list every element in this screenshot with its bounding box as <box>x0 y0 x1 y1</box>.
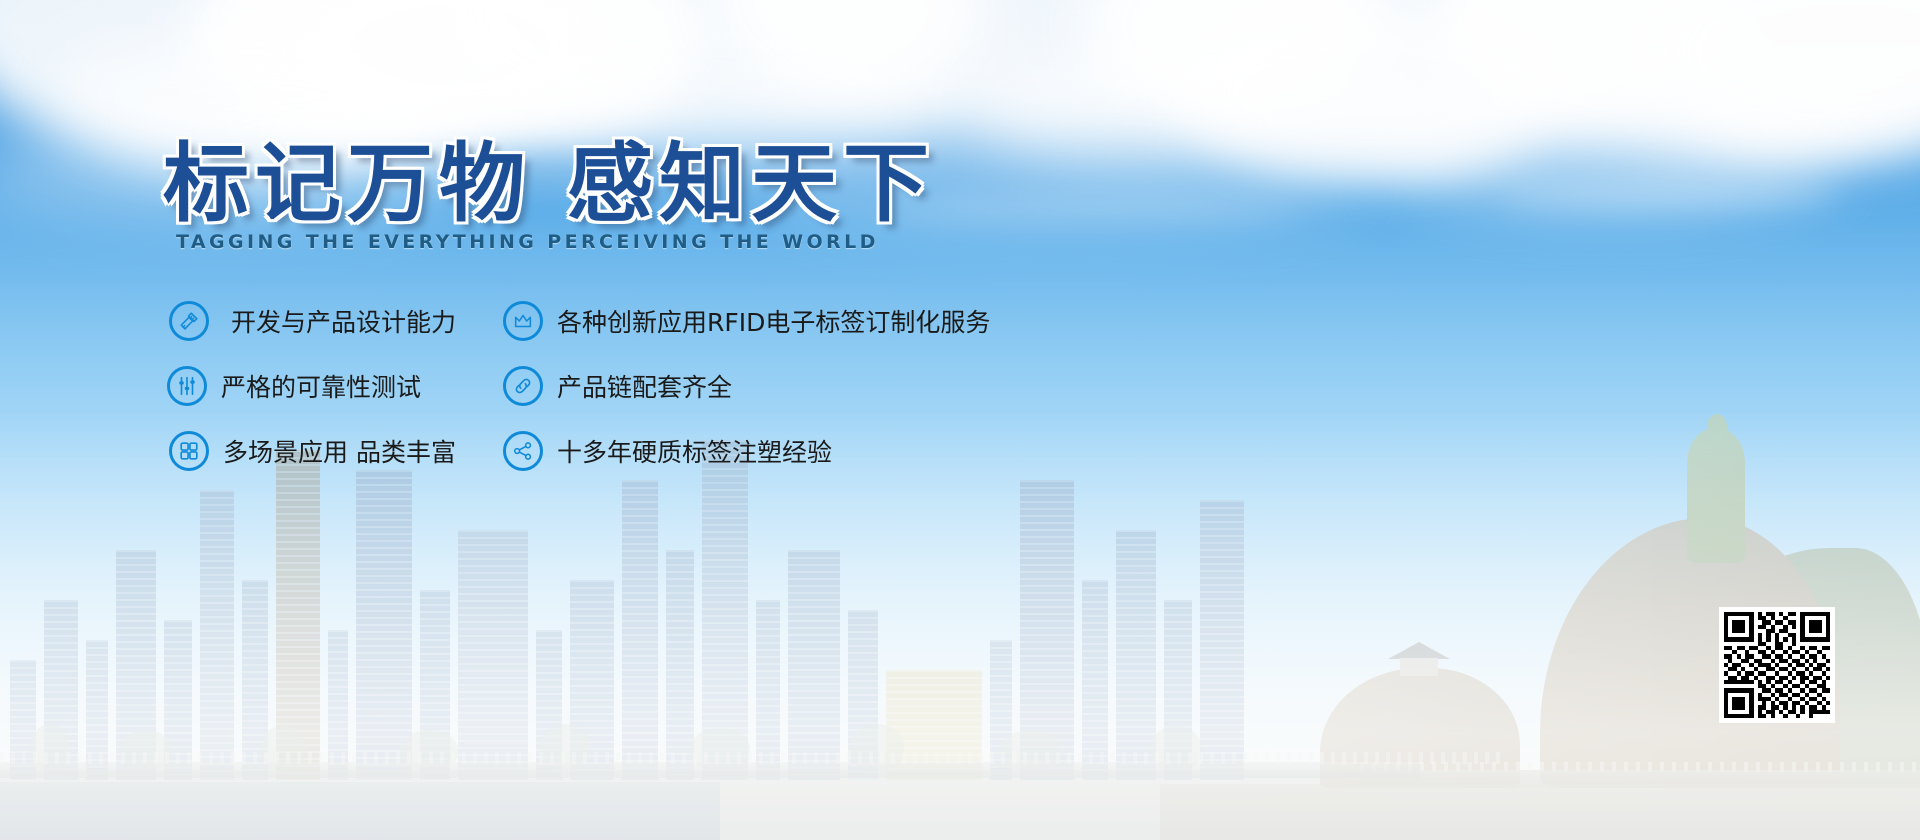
cloud-shape <box>1640 0 1920 160</box>
cloud-shape <box>1380 110 1840 210</box>
share-nodes-icon <box>503 431 543 471</box>
feature-label: 严格的可靠性测试 <box>221 368 421 404</box>
feature-item[interactable]: 产品链配套齐全 <box>503 366 732 406</box>
feature-row: 严格的可靠性测试 产品链配套齐全 <box>155 353 1075 418</box>
link-chain-icon <box>503 366 543 406</box>
promenade-railing <box>0 752 1500 764</box>
feature-label: 产品链配套齐全 <box>557 368 732 404</box>
cloud-streak <box>1500 185 1840 207</box>
feature-row: 多场景应用 品类丰富 十多年硬质标签注塑经验 <box>155 418 1075 483</box>
cloud-shape <box>1180 0 1560 180</box>
cloud-shape <box>980 40 1500 170</box>
page-title: 标记万物 感知天下 <box>163 141 935 227</box>
cloud-shape <box>1080 0 1720 160</box>
coastal-statue <box>1687 428 1745 563</box>
feature-row: 开发与产品设计能力 各种创新应用RFID电子标签订制化服务 <box>155 288 1075 353</box>
grid-squares-icon <box>169 431 209 471</box>
feature-label: 开发与产品设计能力 <box>231 303 456 339</box>
feature-item[interactable]: 开发与产品设计能力 <box>169 301 456 341</box>
cloud-shape <box>300 0 600 130</box>
crown-icon <box>503 301 543 341</box>
promo-banner: 标记万物 感知天下 TAGGING THE EVERYTHING PERCEIV… <box>0 0 1920 840</box>
feature-item[interactable]: 严格的可靠性测试 <box>167 366 421 406</box>
ruler-pencil-icon <box>169 301 209 341</box>
cloud-shape <box>430 0 990 140</box>
page-subtitle: TAGGING THE EVERYTHING PERCEIVING THE WO… <box>176 231 879 253</box>
sliders-icon <box>167 366 207 406</box>
cloud-shape <box>1430 0 1920 160</box>
qr-code-matrix <box>1724 612 1830 718</box>
feature-item[interactable]: 各种创新应用RFID电子标签订制化服务 <box>503 301 990 341</box>
feature-label: 多场景应用 品类丰富 <box>223 433 456 469</box>
feature-label: 各种创新应用RFID电子标签订制化服务 <box>557 303 990 339</box>
feature-label: 十多年硬质标签注塑经验 <box>557 433 832 469</box>
feature-item[interactable]: 十多年硬质标签注塑经验 <box>503 431 832 471</box>
pavilion <box>1388 642 1450 676</box>
statue-head <box>1707 414 1727 440</box>
cloud-shape <box>700 0 1400 150</box>
feature-item[interactable]: 多场景应用 品类丰富 <box>169 431 456 471</box>
qr-code[interactable] <box>1719 607 1835 723</box>
coastal-rock-formation <box>1400 428 1920 788</box>
foreground-ground <box>0 770 1920 840</box>
cloud-streak <box>880 200 1300 218</box>
cloud-streak <box>120 108 420 134</box>
feature-list: 开发与产品设计能力 各种创新应用RFID电子标签订制化服务 <box>155 288 1075 483</box>
